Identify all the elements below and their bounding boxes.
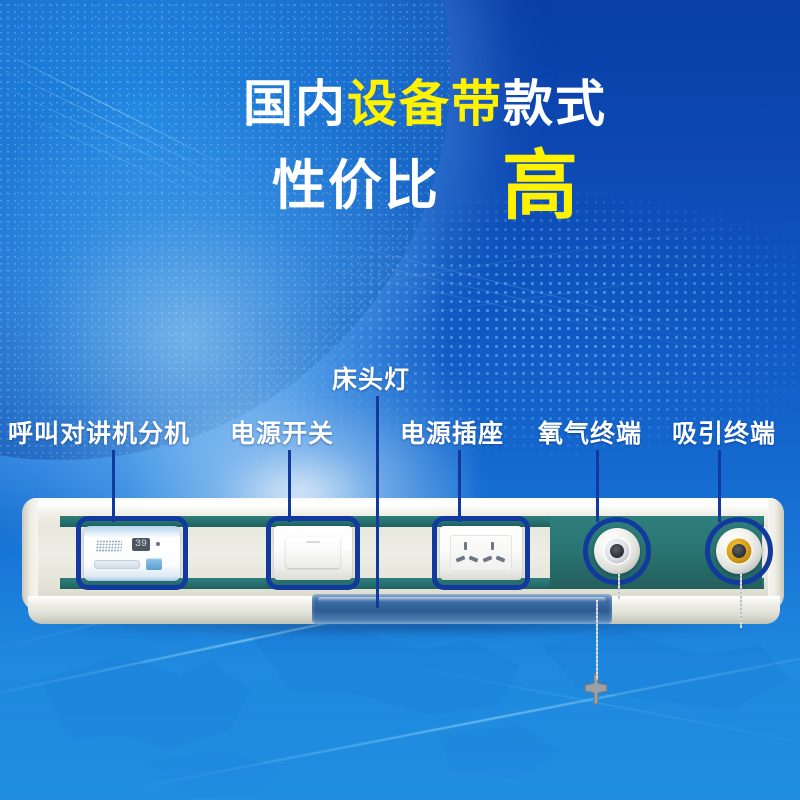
callout-label-suction-terminal: 吸引终端 (672, 414, 776, 450)
callout-label-power-switch: 电源开关 (230, 414, 334, 450)
headline-line-1: 国内设备带款式 (0, 76, 800, 132)
headline-block: 国内设备带款式 性价比高 (0, 76, 800, 228)
headline-seg-1: 国内 (243, 76, 347, 132)
headline-emphasis: 高 (502, 144, 578, 229)
callout-label-nurse-call-intercom: 呼叫对讲机分机 (8, 414, 190, 450)
headline-seg-3: 款式 (503, 76, 607, 132)
callout-label-oxygen-terminal: 氧气终端 (538, 414, 642, 450)
leader-line-suction-terminal (718, 450, 721, 522)
callout-label-bedside-lamp: 床头灯 (332, 360, 410, 396)
banner-canvas: 国内设备带款式 性价比高 呼叫对讲机分机 电源开关 床头灯 电源插座 氧气终端 … (0, 0, 800, 800)
leader-line-power-socket (458, 450, 461, 522)
headline-line-2: 性价比高 (0, 146, 800, 228)
headline-seg-2: 设备带 (347, 76, 503, 132)
callout-label-power-socket: 电源插座 (400, 414, 504, 450)
leader-line-nurse-call-intercom (112, 450, 115, 522)
headline-subtext: 性价比 (272, 156, 440, 216)
leader-line-power-switch (288, 450, 291, 522)
leader-line-oxygen-terminal (596, 450, 599, 522)
leader-line-bedside-lamp (376, 396, 379, 608)
